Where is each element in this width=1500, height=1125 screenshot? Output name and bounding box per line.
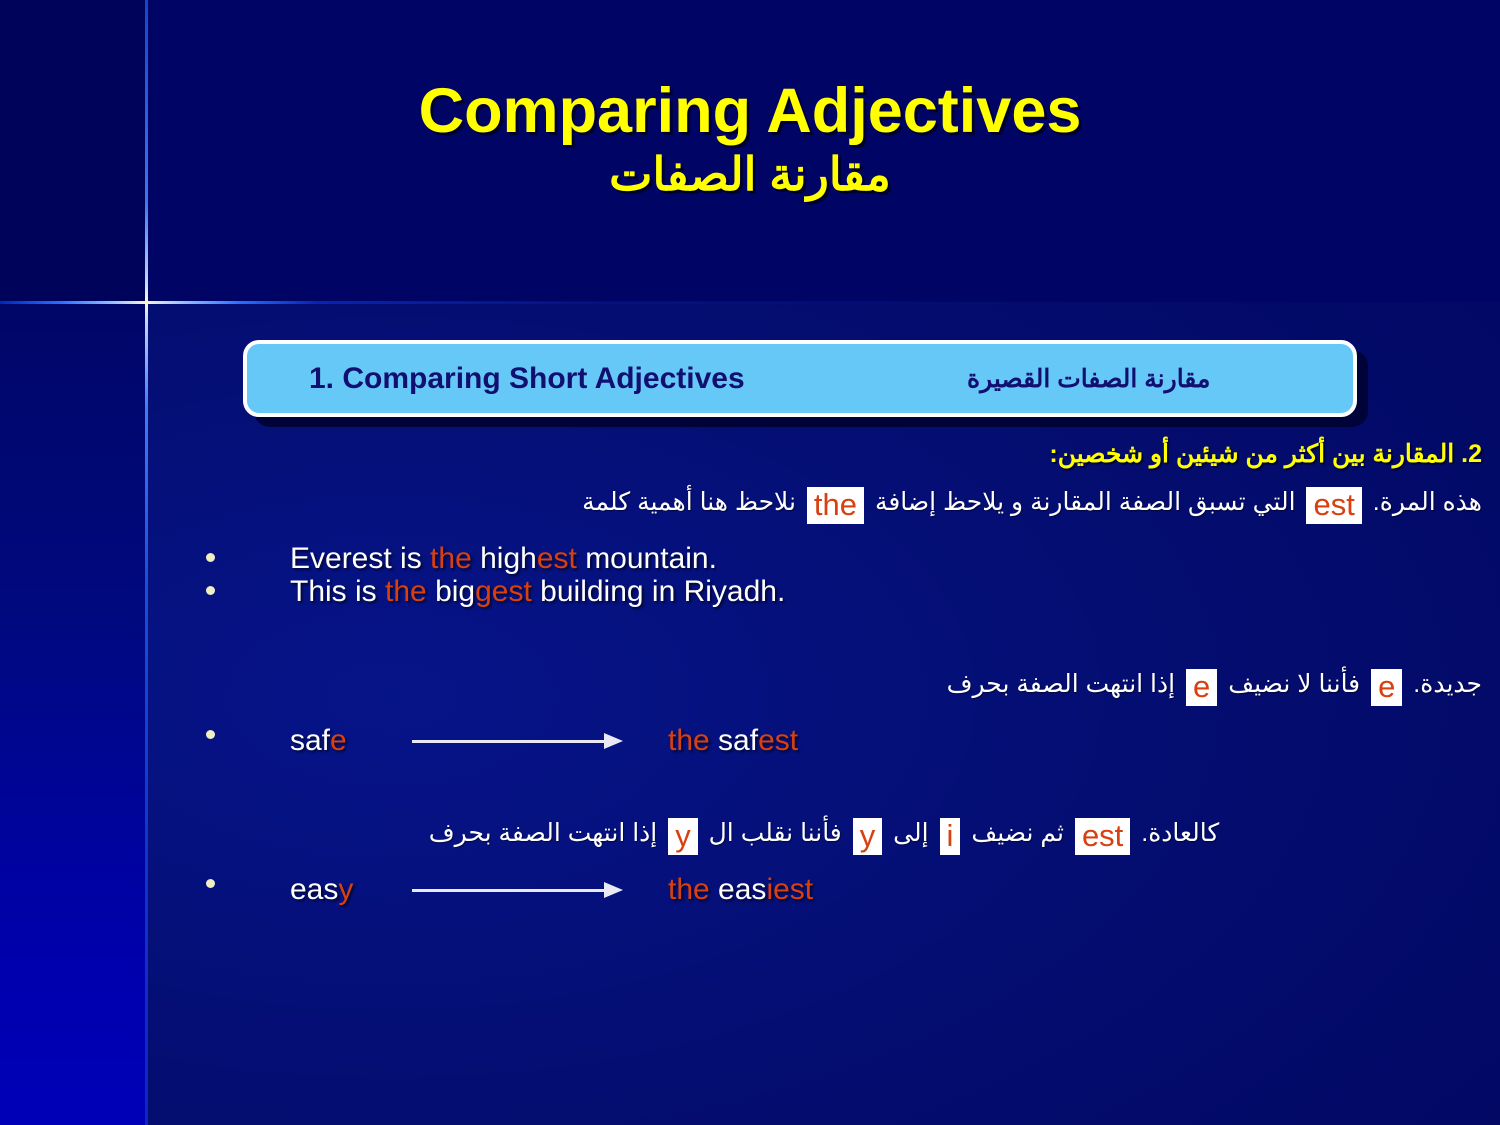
pair-easy-base-highlight: y	[338, 873, 353, 906]
arrow-head	[604, 733, 623, 749]
chip-est-rule-y: est	[1075, 818, 1130, 855]
arrow-right-icon	[412, 731, 624, 751]
pair-easy-base: easy	[290, 873, 410, 907]
pair-easy-base-stem: eas	[290, 873, 338, 906]
pair-safe-result-highlight: est	[758, 724, 798, 757]
note-the-est-part-a: نلاحظ هنا أهمية كلمة	[582, 488, 796, 516]
pair-easy-result-stem: eas	[710, 873, 767, 906]
pair-safe-result: the safest	[668, 724, 798, 758]
example-2-suffix: gest	[475, 575, 532, 608]
example-1-post: mountain.	[577, 542, 717, 575]
arrow-shaft	[412, 740, 608, 743]
pair-safe-base: safe	[290, 724, 410, 758]
rule-silent-e-arabic: جديدة. e فأننا لا نضيف e إذا انتهت الصفة…	[148, 669, 1500, 706]
chip-e-first: e	[1186, 669, 1217, 706]
list-item-example-1: Everest is the highest mountain.	[148, 542, 1500, 576]
example-1-pre: Everest is	[290, 542, 430, 575]
section-banner-label-english: 1. Comparing Short Adjectives	[309, 362, 745, 396]
rule-y-part-e: كالعادة.	[1141, 819, 1219, 847]
example-sentence-2: This is the biggest building in Riyadh.	[290, 575, 785, 609]
slide-title-block: Comparing Adjectives مقارنة الصفات	[0, 78, 1500, 201]
arrow-shaft	[412, 889, 608, 892]
rule-y-to-i-arabic: كالعادة. est ثم نضيف i إلى y فأننا نقلب …	[148, 818, 1500, 855]
chip-e-second: e	[1371, 669, 1402, 706]
bullet-dot-icon	[206, 586, 215, 595]
example-sentence-1: Everest is the highest mountain.	[290, 542, 717, 576]
pair-safe-base-highlight: e	[330, 724, 347, 757]
bullet-dot-icon	[206, 879, 215, 888]
example-2-post: building in Riyadh.	[532, 575, 786, 608]
chip-the: the	[807, 487, 864, 524]
arrow-head	[604, 882, 623, 898]
list-item-pair-easy: easy the easiest	[148, 873, 1500, 907]
example-1-suffix: est	[537, 542, 577, 575]
rule-y-part-d: ثم نضيف	[971, 819, 1064, 847]
note-the-est-part-c: هذه المرة.	[1373, 488, 1482, 516]
chip-y-first: y	[668, 818, 698, 855]
page-title-english: Comparing Adjectives	[0, 78, 1500, 144]
pair-safe-result-stem: saf	[710, 724, 758, 757]
chip-y-second: y	[853, 818, 883, 855]
example-2-mid: big	[427, 575, 475, 608]
example-1-the: the	[430, 542, 472, 575]
sparkle-horizontal-line-icon	[0, 301, 1500, 304]
chip-i: i	[940, 818, 961, 855]
pair-easy-result-the: the	[668, 873, 710, 906]
pair-easy-result-highlight: iest	[766, 873, 813, 906]
section-banner-label-arabic: مقارنة الصفات القصيرة	[967, 364, 1210, 394]
rule-y-part-a: إذا انتهت الصفة بحرف	[429, 819, 657, 847]
rule-e-part-b: فأننا لا نضيف	[1228, 670, 1360, 698]
page-title-arabic: مقارنة الصفات	[0, 148, 1500, 201]
pair-easy-result: the easiest	[668, 873, 813, 907]
pair-safe-result-the: the	[668, 724, 710, 757]
slide-body: 2. المقارنة بين أكثر من شيئين أو شخصين: …	[148, 440, 1500, 907]
rule-y-part-c: إلى	[893, 819, 928, 847]
list-item-example-2: This is the biggest building in Riyadh.	[148, 575, 1500, 609]
example-2-pre: This is	[290, 575, 385, 608]
bullet-dot-icon	[206, 553, 215, 562]
section-banner: 1. Comparing Short Adjectives مقارنة الص…	[243, 340, 1357, 417]
arrow-right-icon	[412, 880, 624, 900]
example-2-the: the	[385, 575, 427, 608]
rule-y-part-b: فأننا نقلب ال	[709, 819, 842, 847]
rule-e-part-c: جديدة.	[1413, 670, 1482, 698]
note-the-est: هذه المرة. est التي تسبق الصفة المقارنة …	[148, 487, 1500, 524]
bullet-dot-icon	[206, 730, 215, 739]
slide-canvas: Comparing Adjectives مقارنة الصفات 1. Co…	[0, 0, 1500, 1125]
example-1-mid: high	[472, 542, 537, 575]
chip-est: est	[1306, 487, 1361, 524]
list-item-pair-safe: safe the safest	[148, 724, 1500, 758]
rule-e-part-a: إذا انتهت الصفة بحرف	[947, 670, 1175, 698]
note-the-est-part-b: التي تسبق الصفة المقارنة و يلاحظ إضافة	[875, 488, 1296, 516]
pair-safe-base-stem: saf	[290, 724, 330, 757]
section-heading-arabic: 2. المقارنة بين أكثر من شيئين أو شخصين:	[148, 440, 1500, 469]
